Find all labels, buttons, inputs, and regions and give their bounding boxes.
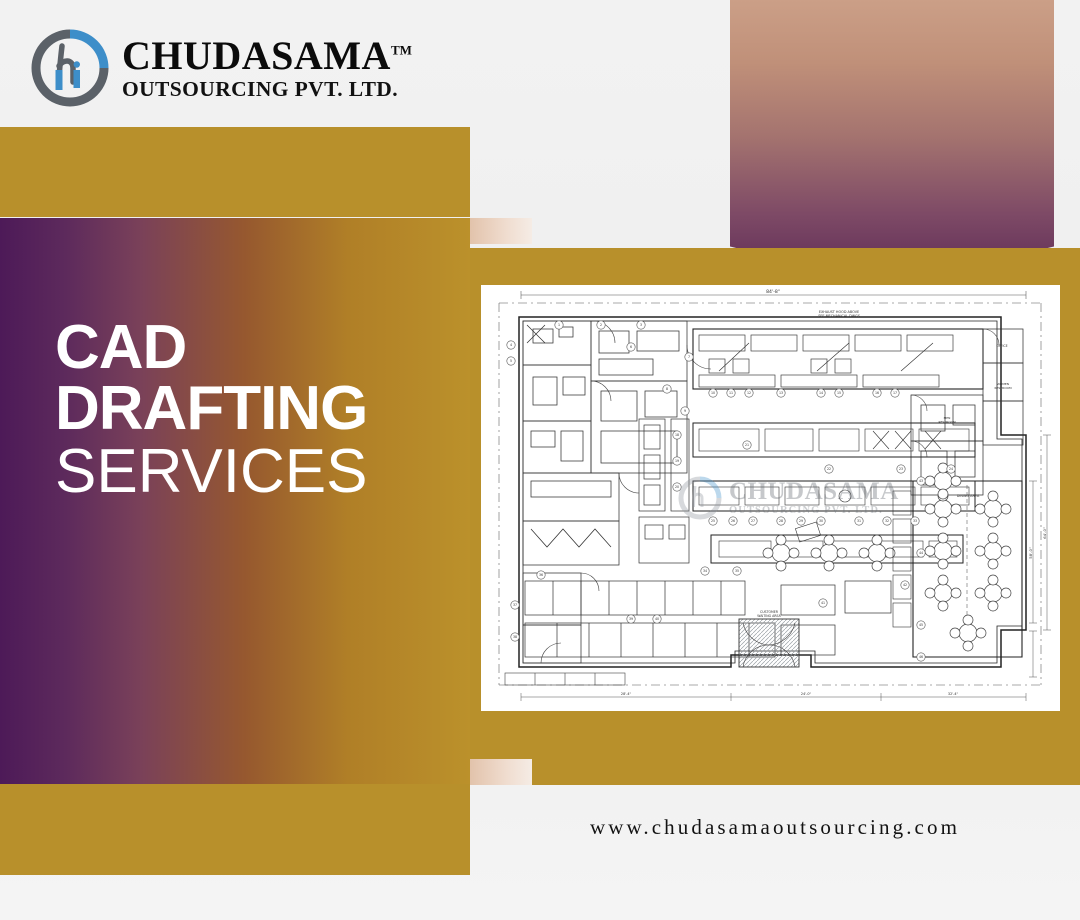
svg-text:3: 3	[640, 323, 642, 327]
svg-text:10: 10	[711, 391, 715, 395]
headline-line-1: CAD	[55, 318, 475, 379]
headline-line-2: DRAFTING	[55, 379, 475, 440]
svg-text:84'-8": 84'-8"	[766, 289, 780, 295]
svg-text:6: 6	[630, 345, 632, 349]
svg-text:28'-4": 28'-4"	[621, 692, 632, 696]
svg-text:28: 28	[779, 519, 783, 523]
svg-text:43: 43	[919, 479, 923, 483]
svg-text:23: 23	[899, 467, 903, 471]
svg-text:40: 40	[655, 617, 659, 621]
svg-text:33: 33	[913, 519, 917, 523]
svg-text:24'-0": 24'-0"	[801, 692, 812, 696]
brand-name: CHUDASAMATM	[122, 36, 412, 76]
svg-text:26: 26	[731, 519, 735, 523]
svg-text:24: 24	[949, 467, 953, 471]
svg-text:16: 16	[875, 391, 879, 395]
svg-text:58'-0": 58'-0"	[1028, 547, 1033, 559]
decorative-banner-ribbon	[730, 0, 1054, 285]
svg-text:39: 39	[629, 617, 633, 621]
svg-text:38: 38	[513, 635, 517, 639]
svg-text:64'-0": 64'-0"	[1042, 527, 1047, 539]
svg-text:29: 29	[799, 519, 803, 523]
gold-band-bottom-left	[0, 784, 470, 875]
svg-text:1: 1	[558, 323, 560, 327]
svg-text:31: 31	[857, 519, 861, 523]
svg-text:27: 27	[751, 519, 755, 523]
svg-text:SEE MECHANICAL DWGS: SEE MECHANICAL DWGS	[818, 314, 860, 318]
svg-text:41: 41	[821, 601, 825, 605]
svg-text:2: 2	[600, 323, 602, 327]
svg-text:DINING AREA: DINING AREA	[957, 494, 980, 498]
svg-text:32'-4": 32'-4"	[948, 692, 959, 696]
svg-text:12: 12	[747, 391, 751, 395]
svg-text:19: 19	[675, 459, 679, 463]
svg-text:46: 46	[919, 655, 923, 659]
brand-name-text: CHUDASAMA	[122, 33, 391, 78]
svg-text:37: 37	[513, 603, 517, 607]
svg-text:20: 20	[675, 485, 679, 489]
brand-logo: CHUDASAMATM OUTSOURCING PVT. LTD.	[28, 26, 412, 110]
svg-text:OFFICE: OFFICE	[996, 344, 1007, 348]
svg-text:32: 32	[885, 519, 889, 523]
page-title: CAD DRAFTING SERVICES	[55, 318, 475, 503]
svg-text:22: 22	[827, 467, 831, 471]
svg-text:44: 44	[919, 551, 923, 555]
headline-line-3: SERVICES	[55, 440, 475, 503]
svg-text:45: 45	[919, 623, 923, 627]
tan-accent-sliver-bottom	[470, 759, 532, 785]
svg-text:7: 7	[688, 355, 690, 359]
svg-text:35: 35	[735, 569, 739, 573]
poster-canvas: CHUDASAMATM OUTSOURCING PVT. LTD. CAD DR…	[0, 0, 1080, 920]
tan-accent-sliver-top	[470, 218, 532, 244]
svg-text:36: 36	[539, 573, 543, 577]
circular-hi-monogram-icon	[28, 26, 112, 110]
brand-wordmark: CHUDASAMATM OUTSOURCING PVT. LTD.	[122, 36, 412, 101]
gold-band-top-left	[0, 127, 470, 217]
svg-text:8: 8	[666, 387, 668, 391]
svg-text:15: 15	[837, 391, 841, 395]
floorplan-image: 84'-8"	[481, 285, 1060, 711]
svg-text:21: 21	[745, 443, 749, 447]
svg-text:14: 14	[819, 391, 823, 395]
svg-text:4: 4	[510, 343, 512, 347]
svg-text:25: 25	[711, 519, 715, 523]
website-url[interactable]: www.chudasamaoutsourcing.com	[470, 796, 1080, 858]
svg-text:17: 17	[893, 391, 897, 395]
svg-text:34: 34	[703, 569, 707, 573]
brand-tagline: OUTSOURCING PVT. LTD.	[122, 79, 412, 101]
svg-text:30: 30	[819, 519, 823, 523]
svg-text:WAITING AREA: WAITING AREA	[757, 614, 781, 618]
svg-text:13: 13	[779, 391, 783, 395]
svg-text:RESTROOM: RESTROOM	[994, 386, 1012, 390]
svg-text:9: 9	[684, 409, 686, 413]
trademark-symbol: TM	[391, 42, 412, 57]
svg-text:42: 42	[903, 583, 907, 587]
svg-text:11: 11	[729, 391, 733, 395]
svg-text:18: 18	[675, 433, 679, 437]
svg-text:5: 5	[510, 359, 512, 363]
